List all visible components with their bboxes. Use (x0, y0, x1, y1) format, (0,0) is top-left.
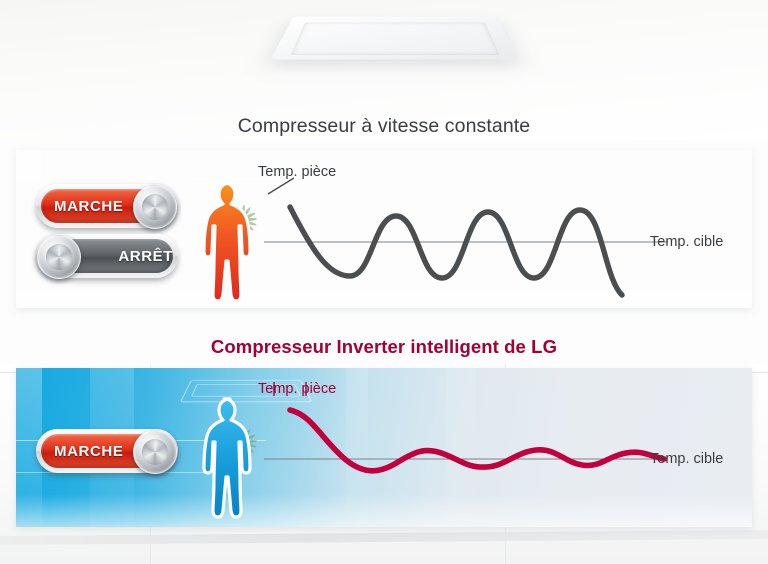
label-target-temperature-constant: Temp. cible (650, 234, 723, 250)
panel-constant-compressor: MARCHE ARRÊT Temp. pièce Temp. cible (16, 150, 752, 308)
person-silhouette-warm (199, 181, 261, 305)
panel-inverter-compressor: MARCHE Temp. pièce Temp. cible (16, 368, 752, 527)
ceiling-cassette-unit (271, 17, 520, 60)
toggle-knob-icon[interactable] (37, 235, 81, 279)
section-title-constant: Compresseur à vitesse constante (0, 115, 768, 138)
toggle-arret-constant[interactable]: ARRÊT (36, 234, 178, 278)
toggle-knob-icon[interactable] (133, 430, 177, 474)
room-scene-constant (16, 150, 752, 308)
section-title-inverter: Compresseur Inverter intelligent de LG (0, 336, 768, 358)
label-room-temperature-constant: Temp. pièce (258, 164, 336, 180)
toggle-knob-icon[interactable] (133, 185, 177, 229)
label-room-temperature-inverter: Temp. pièce (258, 381, 336, 397)
person-silhouette-cool (199, 395, 261, 519)
toggle-marche-constant[interactable]: MARCHE (36, 184, 178, 228)
toggle-marche-inverter[interactable]: MARCHE (36, 429, 178, 473)
label-target-temperature-inverter: Temp. cible (650, 451, 723, 467)
